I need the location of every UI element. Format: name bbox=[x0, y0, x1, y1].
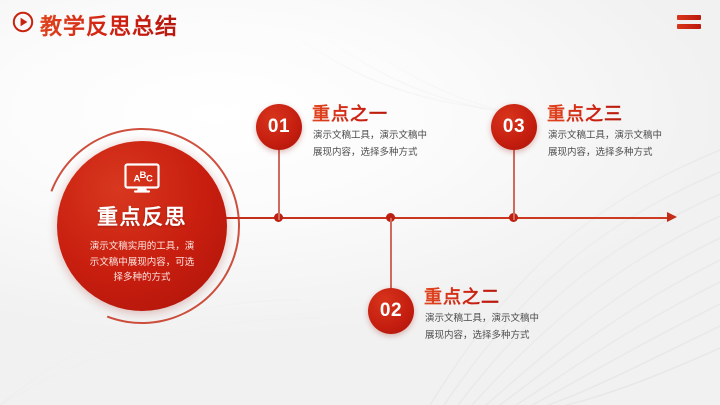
hero-description: 演示文稿实用的工具，演 示文稿中展现内容，可选 择多种的方式 bbox=[72, 239, 212, 286]
node-desc-line: 展现内容，选择多种方式 bbox=[313, 145, 427, 162]
timeline-arrowhead bbox=[667, 212, 677, 222]
node-title-01: 重点之一 bbox=[312, 100, 388, 126]
node-desc-line: 展现内容，选择多种方式 bbox=[548, 145, 662, 162]
connector-stem-02 bbox=[390, 218, 392, 290]
monitor-abc-icon: A B C bbox=[124, 163, 160, 193]
hero-desc-line: 择多种的方式 bbox=[72, 270, 212, 286]
node-desc-line: 展现内容，选择多种方式 bbox=[425, 328, 539, 345]
hero-circle[interactable]: A B C 重点反思 演示文稿实用的工具，演 示文稿中展现内容，可选 择多种的方… bbox=[44, 128, 240, 324]
node-title-03: 重点之三 bbox=[547, 100, 623, 126]
slide-header: 教学反思总结 bbox=[0, 0, 720, 45]
hero-title: 重点反思 bbox=[97, 201, 187, 231]
node-description-02: 演示文稿工具，演示文稿中 展现内容，选择多种方式 bbox=[425, 311, 539, 344]
hero-disc: A B C 重点反思 演示文稿实用的工具，演 示文稿中展现内容，可选 择多种的方… bbox=[57, 141, 227, 311]
menu-bar-top bbox=[677, 15, 701, 20]
node-desc-line: 演示文稿工具，演示文稿中 bbox=[313, 128, 427, 145]
page-title: 教学反思总结 bbox=[40, 9, 178, 41]
node-description-01: 演示文稿工具，演示文稿中 展现内容，选择多种方式 bbox=[313, 128, 427, 161]
hero-desc-line: 示文稿中展现内容，可选 bbox=[72, 255, 212, 271]
hero-desc-line: 演示文稿实用的工具，演 bbox=[72, 239, 212, 255]
menu-bar-bottom bbox=[677, 24, 701, 29]
node-badge-02[interactable]: 02 bbox=[368, 288, 414, 334]
node-desc-line: 演示文稿工具，演示文稿中 bbox=[548, 128, 662, 145]
equals-menu-icon[interactable] bbox=[677, 15, 701, 30]
connector-stem-01 bbox=[278, 150, 280, 220]
node-desc-line: 演示文稿工具，演示文稿中 bbox=[425, 311, 539, 328]
slide-canvas: 教学反思总结 A B C bbox=[0, 0, 720, 405]
node-badge-03[interactable]: 03 bbox=[491, 104, 537, 150]
play-circle-icon bbox=[12, 11, 34, 33]
node-description-03: 演示文稿工具，演示文稿中 展现内容，选择多种方式 bbox=[548, 128, 662, 161]
connector-stem-03 bbox=[513, 150, 515, 220]
node-badge-01[interactable]: 01 bbox=[256, 104, 302, 150]
node-title-02: 重点之二 bbox=[424, 283, 500, 309]
svg-text:C: C bbox=[146, 174, 153, 185]
